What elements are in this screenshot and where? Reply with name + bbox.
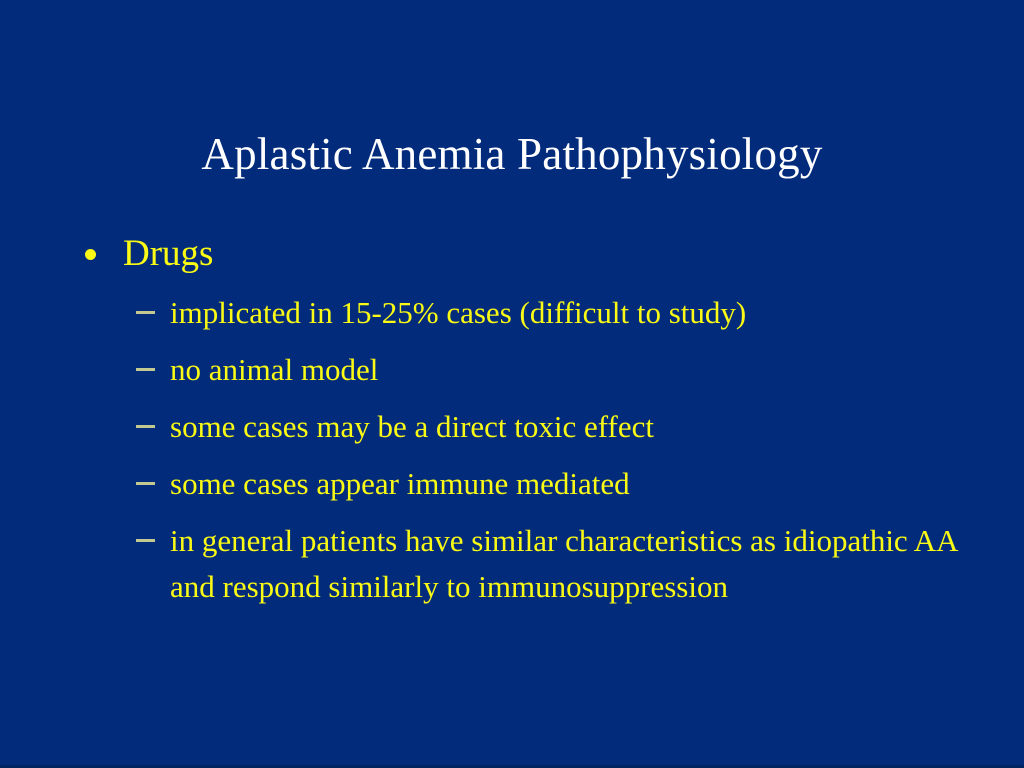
list-item: no animal model (78, 347, 958, 393)
list-item: implicated in 15-25% cases (difficult to… (78, 290, 958, 336)
bullet-label: some cases may be a direct toxic effect (170, 404, 958, 450)
bullet-label: implicated in 15-25% cases (difficult to… (170, 290, 958, 336)
dash-bullet-icon (136, 425, 155, 428)
presentation-slide: Aplastic Anemia Pathophysiology Drugs im… (0, 0, 1024, 768)
list-item: in general patients have similar charact… (78, 518, 958, 610)
list-item: Drugs (78, 232, 958, 276)
bullet-label: some cases appear immune mediated (170, 461, 958, 507)
bullet-label: Drugs (123, 233, 213, 274)
dash-bullet-icon (136, 368, 155, 371)
sub-bullet-list: implicated in 15-25% cases (difficult to… (78, 290, 958, 610)
dash-bullet-icon (136, 539, 155, 542)
round-bullet-icon (85, 249, 96, 260)
slide-body: Drugs implicated in 15-25% cases (diffic… (78, 232, 958, 610)
dash-bullet-icon (136, 311, 155, 314)
list-item: some cases may be a direct toxic effect (78, 404, 958, 450)
dash-bullet-icon (136, 482, 155, 485)
page-title: Aplastic Anemia Pathophysiology (0, 128, 1024, 180)
bullet-label: no animal model (170, 347, 958, 393)
list-item: some cases appear immune mediated (78, 461, 958, 507)
bullet-label: in general patients have similar charact… (170, 518, 958, 610)
